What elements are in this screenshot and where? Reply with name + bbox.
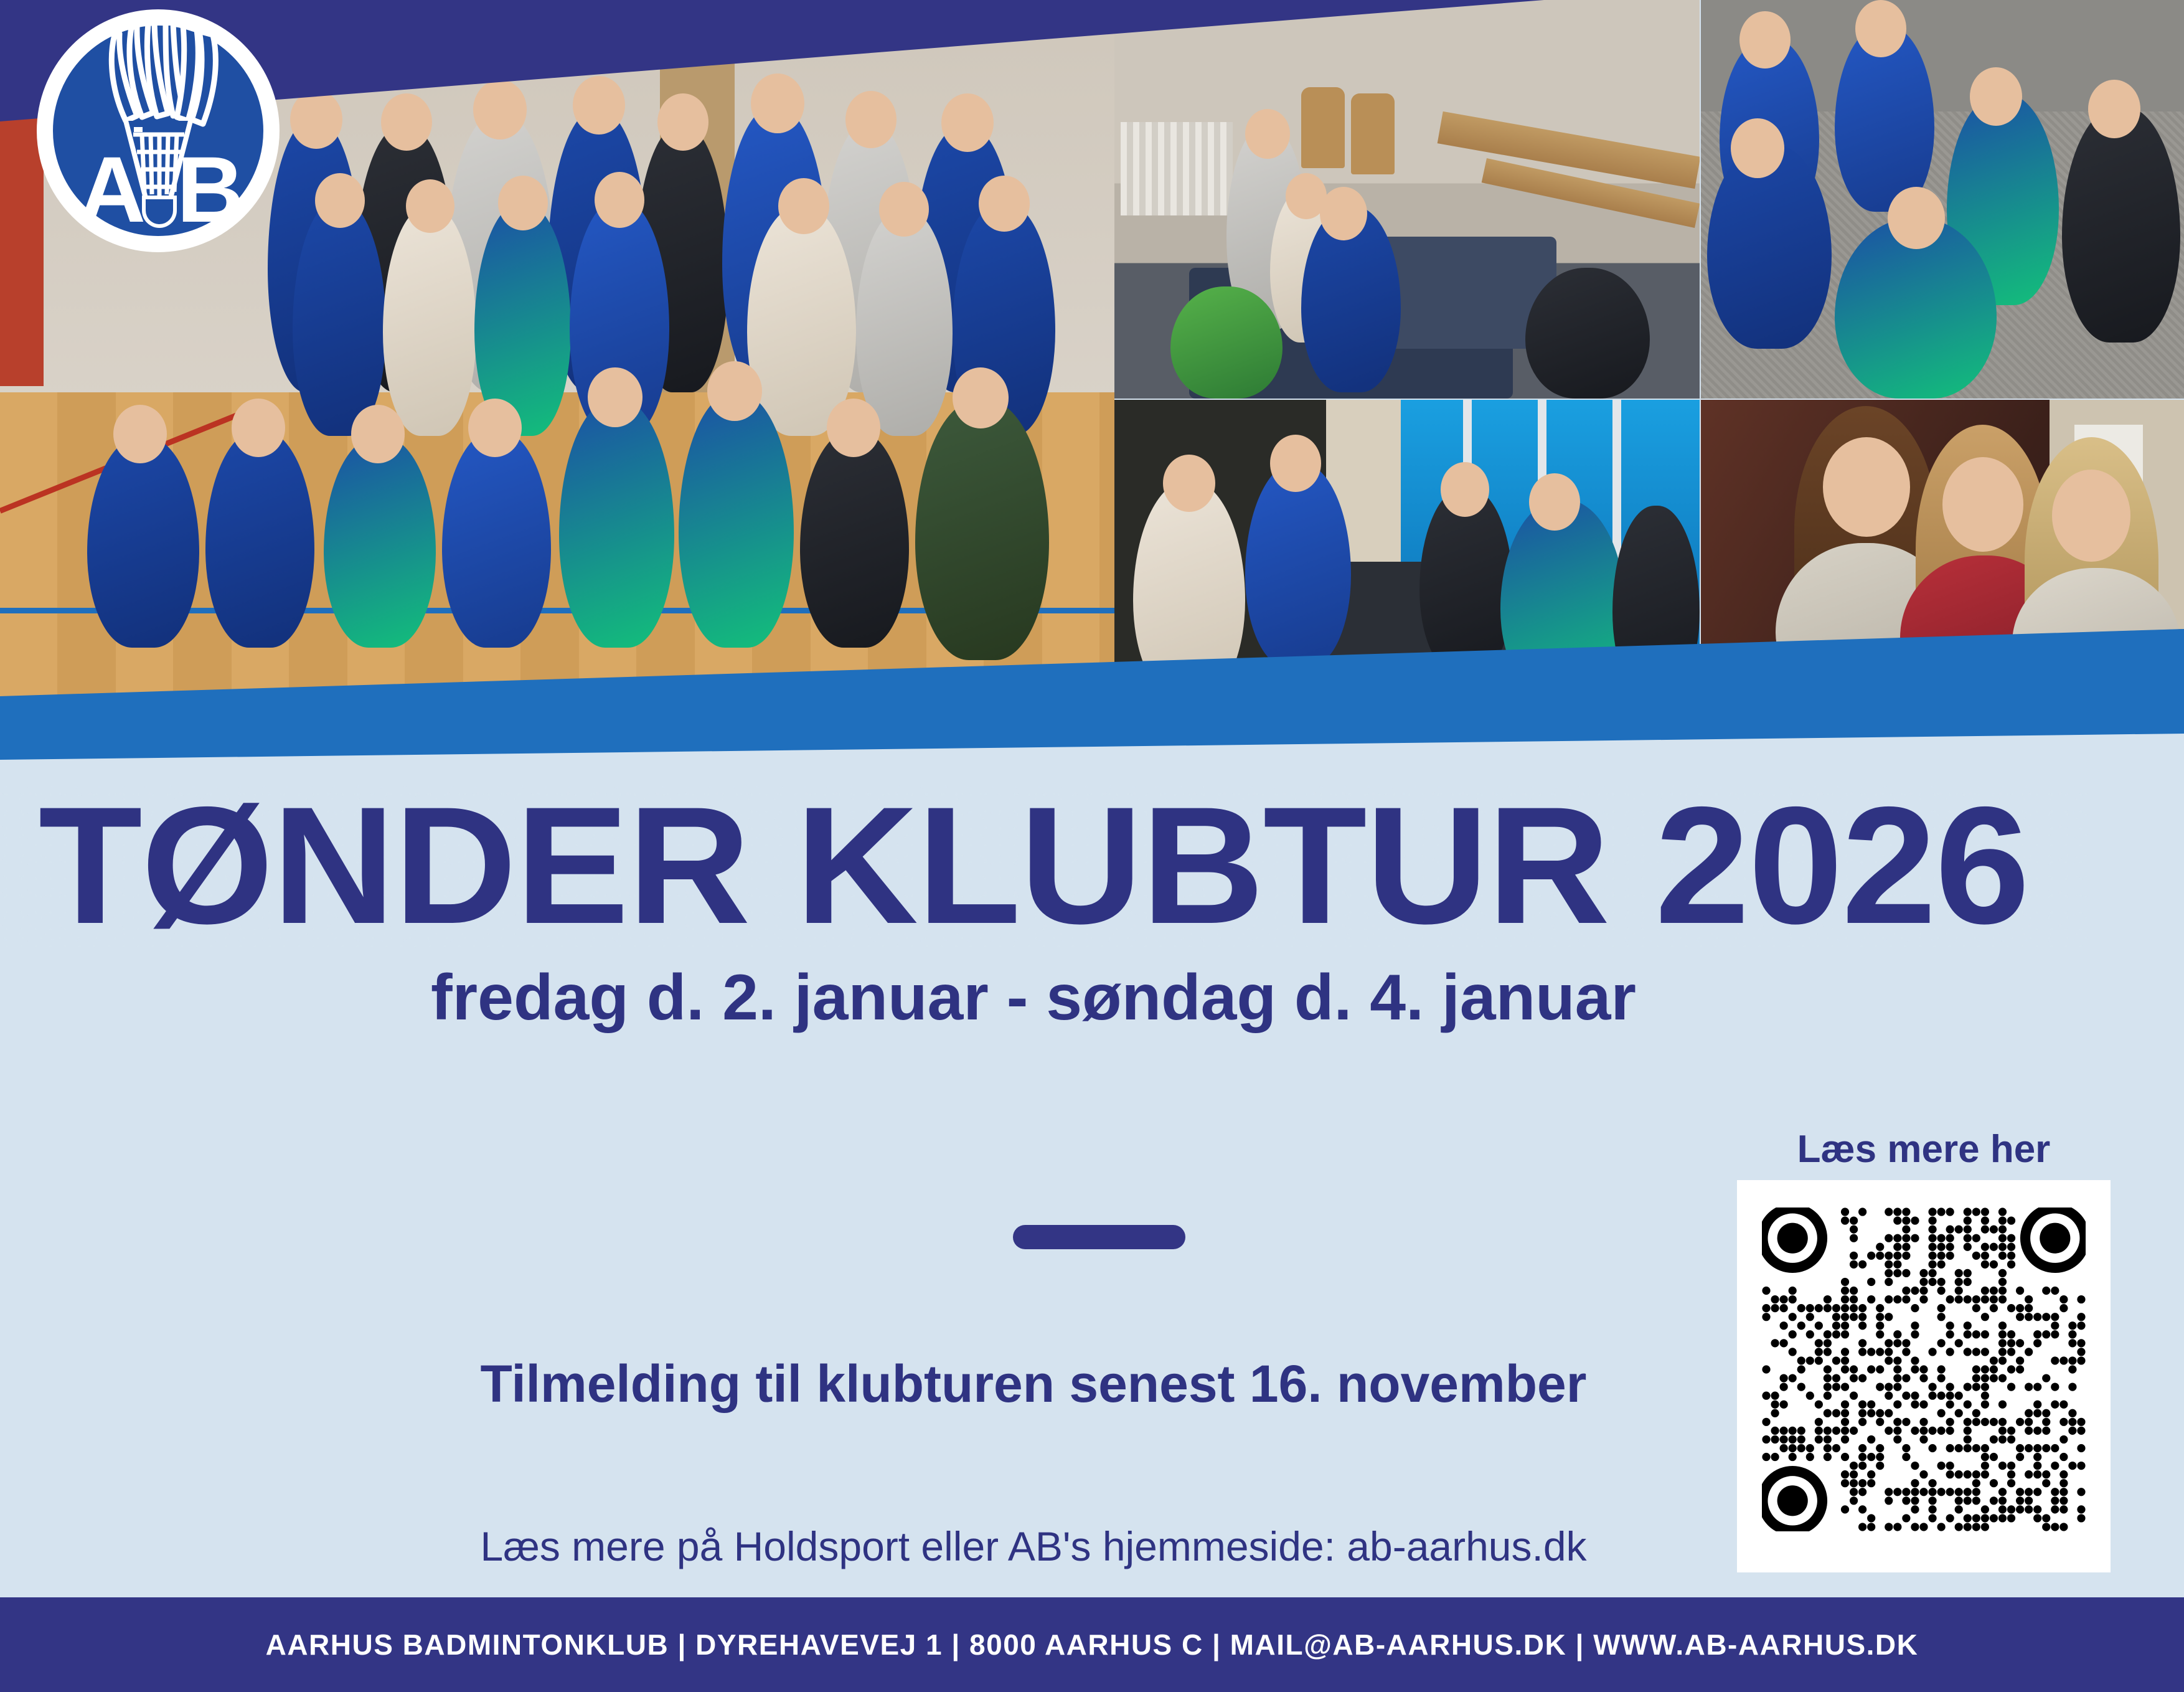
person-head: [879, 182, 929, 237]
person: [915, 399, 1049, 660]
qr-section[interactable]: Læs mere her: [1737, 1130, 2111, 1579]
person-head: [473, 80, 527, 139]
page-title: TØNDER KLUBTUR 2026: [0, 782, 2088, 948]
person-head: [979, 176, 1030, 232]
person-head: [588, 367, 642, 427]
person: [856, 209, 953, 436]
person-head: [2088, 80, 2140, 138]
person: [747, 206, 856, 436]
footer-bar: AARHUS BADMINTONKLUB | DYREHAVEVEJ 1 | 8…: [0, 1597, 2184, 1692]
person-head: [1441, 462, 1489, 517]
photo-girls-sitting-floor: [1701, 0, 2184, 399]
person: [87, 436, 199, 648]
person-head: [498, 176, 548, 230]
chair: [1301, 87, 1345, 168]
person-head: [1739, 11, 1791, 69]
poster-root: A B TØNDER KLUBTUR 2026 fredag d. 2. jan…: [0, 0, 2184, 1692]
person-head: [1731, 118, 1784, 178]
person-head: [315, 173, 365, 228]
person-head: [953, 367, 1009, 428]
qr-code-card[interactable]: [1737, 1180, 2111, 1572]
logo-letter-b: B: [177, 137, 244, 242]
person-head: [573, 76, 625, 135]
person: [1170, 286, 1283, 399]
person-head: [751, 73, 804, 133]
person: [1525, 268, 1650, 399]
photo-content: [1701, 0, 2184, 399]
person: [800, 430, 909, 648]
person-head: [2052, 470, 2130, 562]
person: [1245, 462, 1351, 668]
person-head: [1823, 437, 1910, 537]
divider-dash: [1013, 1225, 1185, 1249]
person: [205, 430, 314, 648]
person-head: [845, 91, 897, 148]
person-head: [406, 179, 454, 233]
person-head: [1270, 435, 1321, 492]
person-head: [657, 93, 708, 151]
person-head: [1320, 187, 1367, 240]
person-head: [290, 90, 342, 149]
photo-content: [1114, 0, 1700, 399]
logo-letter-a: A: [78, 137, 146, 242]
photo-common-room-laughing: [1114, 0, 1700, 399]
person-head: [941, 93, 994, 152]
person-head: [351, 405, 405, 463]
person-head: [1245, 109, 1290, 159]
person-head: [381, 93, 432, 151]
person: [324, 436, 436, 648]
person-head: [1163, 455, 1215, 512]
person-head: [468, 399, 522, 457]
person-head: [1970, 67, 2022, 126]
event-dates: fredag d. 2. januar - søndag d. 4. janua…: [0, 965, 2067, 1030]
person: [559, 399, 674, 648]
person-head: [232, 399, 285, 457]
photo-collage: [0, 0, 2184, 701]
person-head: [1529, 473, 1580, 531]
radiator: [1121, 122, 1233, 215]
person-head: [595, 172, 644, 228]
club-logo: A B: [32, 5, 284, 257]
person-head: [707, 361, 762, 421]
person-head: [778, 178, 829, 234]
person: [2062, 106, 2180, 343]
qr-label: Læs mere her: [1737, 1130, 2111, 1169]
person-head: [1855, 0, 1906, 57]
qr-code-icon[interactable]: [1762, 1208, 2086, 1531]
person-head: [827, 399, 880, 457]
person-head: [1942, 457, 2023, 552]
person: [679, 392, 794, 648]
person: [293, 199, 386, 436]
person: [442, 430, 551, 648]
person-head: [1888, 187, 1945, 249]
footer-contact-info: AARHUS BADMINTONKLUB | DYREHAVEVEJ 1 | 8…: [266, 1628, 1919, 1661]
person-head: [113, 405, 167, 463]
chair: [1351, 93, 1395, 174]
person: [383, 206, 476, 436]
